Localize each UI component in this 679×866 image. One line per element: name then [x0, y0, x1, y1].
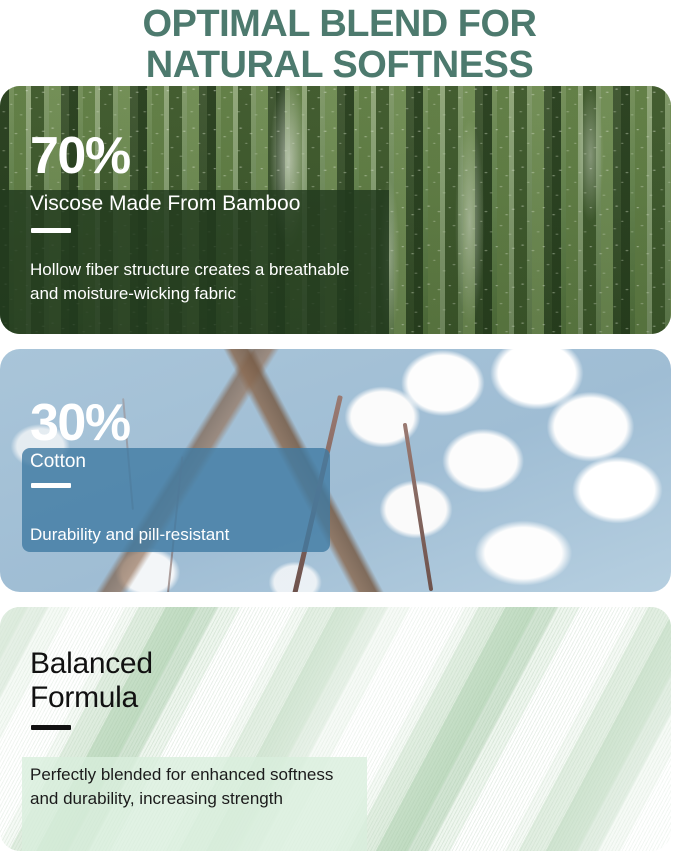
cotton-percentage: 30%: [30, 397, 130, 449]
panel-bamboo: 70% Viscose Made From Bamboo Hollow fibe…: [0, 86, 671, 334]
bamboo-material-label: Viscose Made From Bamboo: [30, 192, 300, 216]
cotton-content: 30% Cotton Durability and pill-resistant: [0, 349, 671, 592]
cotton-description: Durability and pill-resistant: [30, 523, 370, 547]
page-header: OPTIMAL BLEND FOR NATURAL SOFTNESS: [0, 0, 679, 86]
bamboo-percentage: 70%: [30, 130, 130, 182]
panel-cotton: 30% Cotton Durability and pill-resistant: [0, 349, 671, 592]
bamboo-divider: [31, 228, 71, 233]
bamboo-content: 70% Viscose Made From Bamboo Hollow fibe…: [0, 86, 671, 334]
fiber-headline-line-2: Formula: [30, 681, 153, 715]
page-title-line-2: NATURAL SOFTNESS: [0, 45, 679, 86]
fiber-headline-line-1: Balanced: [30, 647, 153, 681]
cotton-material-label: Cotton: [30, 450, 86, 474]
page-title-line-1: OPTIMAL BLEND FOR: [0, 4, 679, 45]
fiber-content: Balanced Formula Perfectly blended for e…: [0, 607, 671, 851]
fiber-divider: [31, 725, 71, 730]
bamboo-description: Hollow fiber structure creates a breatha…: [30, 258, 370, 306]
fiber-headline: Balanced Formula: [30, 647, 153, 715]
cotton-divider: [31, 483, 71, 488]
panel-balanced-formula: Balanced Formula Perfectly blended for e…: [0, 607, 671, 851]
fiber-description: Perfectly blended for enhanced softness …: [30, 763, 360, 811]
